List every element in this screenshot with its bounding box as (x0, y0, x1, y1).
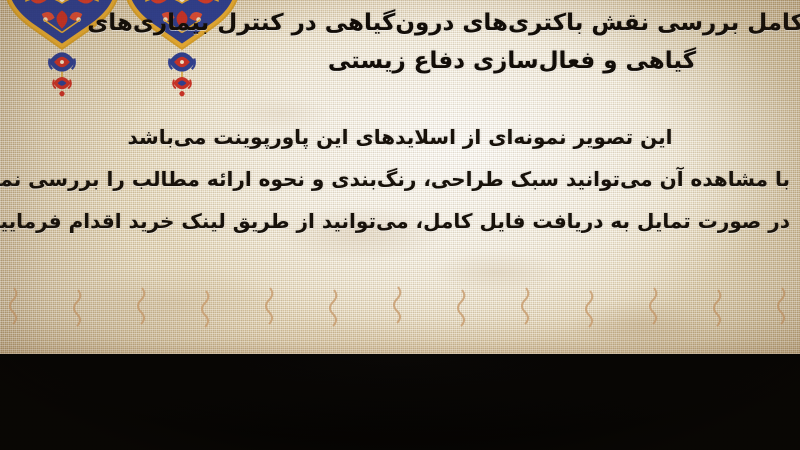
slide-title-line-2: گیاهی و فعال‌سازی دفاع زیستی (232, 42, 792, 80)
slide-body-text: این تصویر نمونه‌ای از اسلایدهای این پاور… (10, 116, 790, 242)
body-line-3: در صورت تمایل به دریافت فایل کامل، می‌تو… (10, 200, 790, 242)
bottom-black-band (0, 354, 800, 450)
slide-title-line-1: کامل بررسی نقش باکتری‌های درون‌گیاهی در … (232, 4, 800, 42)
body-line-1: این تصویر نمونه‌ای از اسلایدهای این پاور… (10, 116, 790, 158)
slide-title: کامل بررسی نقش باکتری‌های درون‌گیاهی در … (232, 4, 792, 80)
slide-canvas: کامل بررسی نقش باکتری‌های درون‌گیاهی در … (0, 0, 800, 450)
body-line-2: با مشاهده آن می‌توانید سبک طراحی، رنگ‌بن… (10, 158, 790, 200)
